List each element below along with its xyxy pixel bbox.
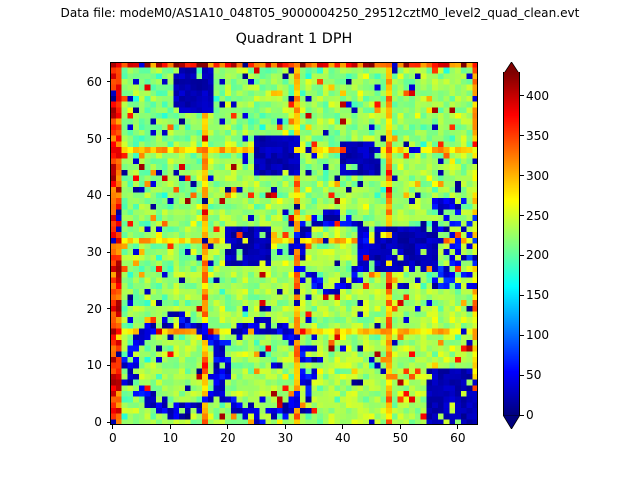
y-tick-label: 20	[70, 302, 102, 316]
y-tick-label: 50	[70, 132, 102, 146]
colorbar-tick-mark	[520, 175, 524, 176]
colorbar-tick-mark	[520, 255, 524, 256]
y-tick-label: 0	[70, 415, 102, 429]
colorbar-spine-left	[503, 72, 504, 415]
colorbar-tick-label: 400	[526, 89, 549, 103]
y-tick-mark	[107, 365, 111, 366]
colorbar-tick-label: 350	[526, 129, 549, 143]
colorbar-tick-label: 150	[526, 288, 549, 302]
x-tick-label: 60	[450, 431, 465, 445]
y-tick-label: 10	[70, 358, 102, 372]
figure-suptitle: Data file: modeM0/AS1A10_048T05_90000042…	[0, 6, 640, 21]
x-tick-mark	[457, 425, 458, 429]
x-tick-label: 10	[163, 431, 178, 445]
colorbar-tick-mark	[520, 375, 524, 376]
heatmap-axes	[110, 62, 478, 425]
x-tick-label: 40	[335, 431, 350, 445]
colorbar-tick-mark	[520, 295, 524, 296]
matplotlib-figure: Data file: modeM0/AS1A10_048T05_90000042…	[0, 0, 640, 480]
x-tick-mark	[285, 425, 286, 429]
page-title: Quadrant 1 DPH	[0, 30, 588, 49]
x-tick-mark	[170, 425, 171, 429]
x-tick-mark	[342, 425, 343, 429]
y-tick-label: 60	[70, 75, 102, 89]
colorbar-gradient	[503, 72, 520, 415]
colorbar-tick-label: 0	[526, 408, 534, 422]
colorbar-extend-arrow-bottom	[503, 414, 520, 428]
x-tick-label: 20	[220, 431, 235, 445]
y-tick-mark	[107, 308, 111, 309]
x-tick-mark	[400, 425, 401, 429]
colorbar-tick-mark	[520, 415, 524, 416]
colorbar-tick-mark	[520, 335, 524, 336]
y-tick-mark	[107, 422, 111, 423]
y-tick-mark	[107, 138, 111, 139]
colorbar-tick-label: 200	[526, 248, 549, 262]
y-tick-mark	[107, 195, 111, 196]
colorbar-tick-mark	[520, 215, 524, 216]
colorbar-spine-right	[519, 72, 520, 415]
colorbar-tick-label: 50	[526, 368, 541, 382]
colorbar-tick-label: 250	[526, 209, 549, 223]
colorbar-tick-mark	[520, 135, 524, 136]
x-tick-mark	[227, 425, 228, 429]
x-tick-label: 0	[109, 431, 117, 445]
colorbar	[503, 72, 520, 415]
dph-heatmap-image	[110, 62, 478, 425]
colorbar-tick-label: 100	[526, 328, 549, 342]
colorbar-tick-label: 300	[526, 169, 549, 183]
x-tick-mark	[112, 425, 113, 429]
y-tick-mark	[107, 81, 111, 82]
colorbar-tick-mark	[520, 95, 524, 96]
y-tick-mark	[107, 252, 111, 253]
x-tick-label: 50	[393, 431, 408, 445]
y-tick-label: 40	[70, 188, 102, 202]
x-tick-label: 30	[278, 431, 293, 445]
y-tick-label: 30	[70, 245, 102, 259]
